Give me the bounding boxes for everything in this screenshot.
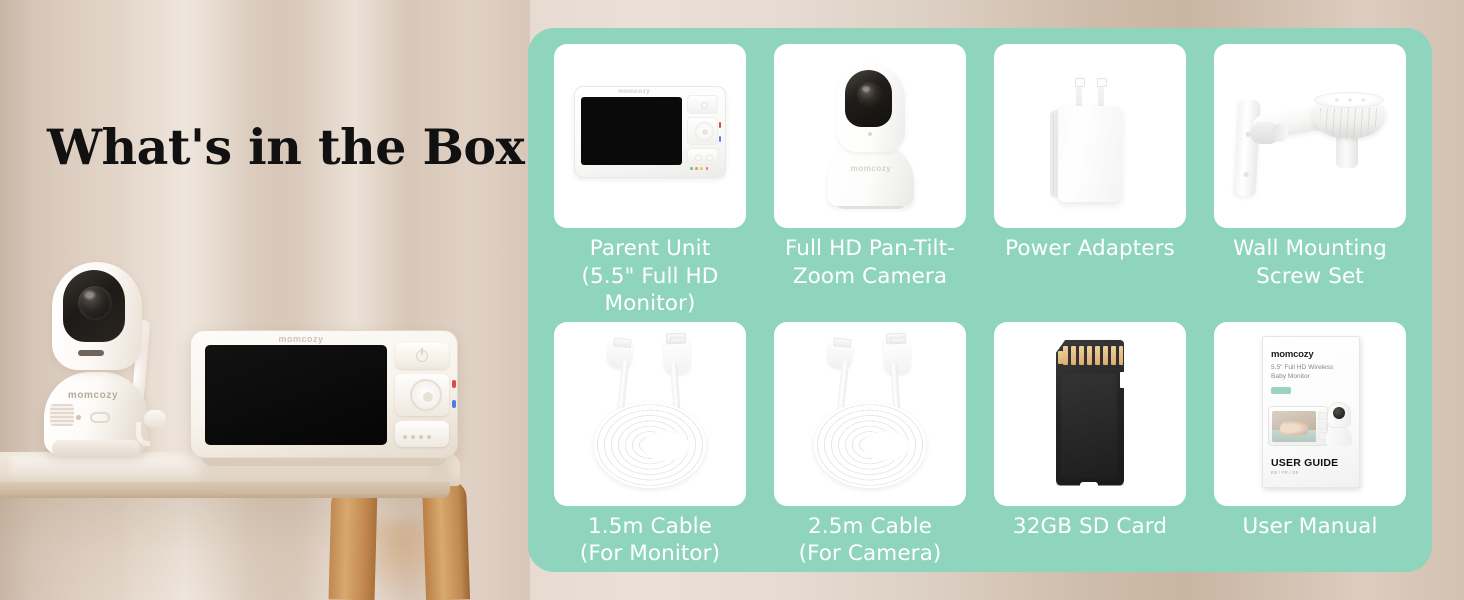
manual-guide-label: USER GUIDE	[1271, 457, 1338, 469]
sd-pin	[1087, 346, 1092, 365]
dpad-center-icon	[423, 392, 433, 402]
led-red	[706, 167, 709, 170]
product-caption-cable-camera: 2.5m Cable (For Camera)	[799, 513, 942, 568]
product-card-cable-camera	[774, 322, 966, 506]
product-caption-camera: Full HD Pan-Tilt- Zoom Camera	[785, 235, 955, 290]
product-card-cable-monitor	[554, 322, 746, 506]
product-card-camera: momcozy	[774, 44, 966, 228]
caption-line-1: Power Adapters	[1005, 235, 1175, 263]
caption-line-2: (For Monitor)	[580, 540, 720, 568]
mount-screw-points-icon	[1328, 94, 1372, 106]
wall-plate	[1234, 99, 1261, 196]
camera-sensor-dot	[868, 132, 872, 136]
caption-line-1: 2.5m Cable	[799, 513, 942, 541]
cable-illustration	[798, 336, 942, 494]
caption-line-1: User Manual	[1242, 513, 1377, 541]
adapter-seam	[1053, 114, 1054, 194]
camera-mic	[136, 410, 166, 444]
sd-pin	[1079, 346, 1084, 365]
mount-knob	[1272, 124, 1288, 142]
camera-brand-logo: momcozy	[836, 164, 906, 173]
red-indicator	[719, 122, 722, 128]
grid-item-wall-mount: Wall Mounting Screw Set	[1206, 44, 1414, 318]
grid-item-camera: momcozy Full HD Pan-Tilt- Zoom Camera	[766, 44, 974, 318]
camera-led-indicator	[76, 415, 81, 420]
caption-line-2: (For Camera)	[799, 540, 942, 568]
sd-pin	[1063, 346, 1068, 365]
blue-indicator	[452, 400, 456, 408]
manual-guide-sub: EN / FR / DE	[1271, 470, 1299, 475]
product-caption-power-adapters: Power Adapters	[1005, 235, 1175, 263]
dpad-icon	[695, 122, 714, 141]
product-grid: momcozy	[546, 44, 1414, 556]
camera-sd-slot	[78, 350, 104, 356]
led-2	[411, 435, 415, 439]
caption-line-1: Full HD Pan-Tilt-	[785, 235, 955, 263]
function-key-right-icon	[706, 155, 713, 161]
function-key-left-icon	[695, 155, 702, 161]
monitor-brand-logo: momcozy	[604, 88, 664, 95]
user-manual-illustration: momcozy 5.5" Full HD Wireless Baby Monit…	[1262, 336, 1360, 488]
product-caption-cable-monitor: 1.5m Cable (For Monitor)	[580, 513, 720, 568]
product-caption-parent-unit: Parent Unit (5.5" Full HD Monitor)	[546, 235, 754, 318]
caption-line-2: Zoom Camera	[785, 263, 955, 291]
grid-item-power-adapters: Power Adapters	[986, 44, 1194, 318]
caption-line-1: Wall Mounting	[1233, 235, 1387, 263]
camera-speaker-grille	[50, 404, 74, 426]
camera-button	[90, 412, 110, 423]
usb-tip-icon	[666, 332, 687, 344]
manual-photo-screen	[1272, 411, 1316, 442]
monitor-dpad-key	[687, 117, 718, 145]
power-adapter-illustration	[1040, 68, 1140, 206]
product-caption-sd-card: 32GB SD Card	[1013, 513, 1167, 541]
led-1	[403, 435, 407, 439]
cable-illustration	[578, 336, 722, 494]
led-orange	[695, 167, 698, 170]
headline: What's in the Box ▶	[47, 118, 566, 176]
grid-item-cable-camera: 2.5m Cable (For Camera)	[766, 322, 974, 568]
sd-card-label-area	[1061, 374, 1117, 478]
monitor-body: momcozy	[190, 330, 458, 458]
manual-title: 5.5" Full HD Wireless Baby Monitor	[1271, 363, 1349, 382]
product-caption-wall-mount: Wall Mounting Screw Set	[1233, 235, 1387, 290]
cable-coil	[594, 402, 706, 488]
product-caption-user-manual: User Manual	[1242, 513, 1377, 541]
manual-photo-baby	[1280, 421, 1308, 435]
camera-illustration: momcozy	[826, 64, 916, 212]
sd-pin	[1103, 346, 1108, 365]
caption-line-1: Parent Unit	[546, 235, 754, 263]
sd-pin	[1071, 346, 1076, 365]
sd-bottom-notch	[1080, 482, 1098, 487]
cable-coil	[814, 402, 926, 488]
photo-camera-device: momcozy	[38, 262, 158, 462]
photo-monitor-device: momcozy	[190, 330, 460, 470]
cable-coil-center	[862, 431, 910, 461]
caption-line-1: 1.5m Cable	[580, 513, 720, 541]
monitor-power-key	[687, 95, 718, 114]
lifestyle-photo: momcozy momcozy	[0, 0, 530, 600]
manual-badge	[1271, 387, 1291, 394]
product-card-wall-mount	[1214, 44, 1406, 228]
red-indicator	[452, 380, 456, 388]
blue-indicator	[719, 136, 722, 142]
led-3	[419, 435, 423, 439]
monitor-led-row	[690, 167, 708, 170]
led-4	[427, 435, 431, 439]
promo-banner: momcozy momcozy	[0, 0, 1464, 600]
monitor-screen	[205, 345, 387, 445]
dpad-icon	[410, 379, 442, 411]
manual-photo-monitor	[1268, 406, 1328, 446]
dpad-center-icon	[702, 129, 708, 135]
led-green	[690, 167, 693, 170]
grid-item-sd-card: 32GB SD Card	[986, 322, 1194, 568]
monitor-power-key	[395, 343, 449, 369]
manual-brand-logo: momcozy	[1271, 349, 1313, 360]
product-card-user-manual: momcozy 5.5" Full HD Wireless Baby Monit…	[1214, 322, 1406, 506]
sd-card-illustration	[1056, 340, 1124, 486]
monitor-screen	[581, 97, 682, 165]
usb-tip-icon	[886, 332, 907, 344]
sd-pin	[1111, 346, 1116, 365]
sd-card-contacts-icon	[1063, 346, 1123, 365]
screw-hole-bottom-icon	[1243, 172, 1248, 177]
camera-lens-icon	[857, 82, 883, 108]
cable-coil-center	[642, 431, 690, 461]
grid-item-cable-monitor: 1.5m Cable (For Monitor)	[546, 322, 754, 568]
monitor-brand-logo: momcozy	[251, 334, 351, 344]
wall-mount-illustration	[1228, 82, 1392, 200]
grid-item-user-manual: momcozy 5.5" Full HD Wireless Baby Monit…	[1206, 322, 1414, 568]
camera-lens-icon	[78, 286, 112, 320]
monitor-dpad-key	[395, 374, 449, 416]
manual-photo-camera-base	[1326, 426, 1352, 446]
caption-line-2: Screw Set	[1233, 263, 1387, 291]
manual-photo-camera	[1324, 400, 1354, 448]
caption-line-2: (5.5" Full HD Monitor)	[546, 263, 754, 318]
caption-line-1: 32GB SD Card	[1013, 513, 1167, 541]
monitor-illustration: momcozy	[574, 86, 726, 178]
sd-pin	[1119, 346, 1124, 365]
whats-in-box-panel: momcozy	[528, 28, 1432, 572]
manual-cover-photo	[1268, 400, 1354, 450]
micro-usb-connector-icon	[827, 340, 854, 368]
power-icon	[416, 350, 428, 362]
product-card-parent-unit: momcozy	[554, 44, 746, 228]
monitor-reflection	[200, 466, 450, 492]
sd-write-protect-notch	[1120, 372, 1125, 388]
adapter-body	[1058, 106, 1122, 202]
monitor-function-keys	[687, 148, 718, 165]
grid-item-parent-unit: momcozy	[546, 44, 754, 318]
sd-pin	[1095, 346, 1100, 365]
camera-mic-head	[144, 410, 166, 428]
product-card-power-adapters	[994, 44, 1186, 228]
camera-foot	[52, 440, 140, 458]
monitor-function-keys	[395, 421, 449, 447]
product-card-sd-card	[994, 322, 1186, 506]
camera-brand-logo: momcozy	[58, 390, 128, 401]
headline-text: What's in the Box	[47, 118, 524, 176]
micro-usb-connector-icon	[607, 340, 634, 368]
led-yellow	[700, 167, 703, 170]
power-icon	[701, 102, 708, 109]
wooden-chair-back	[329, 487, 378, 600]
monitor-control-pad	[687, 95, 719, 168]
monitor-led-row	[403, 435, 431, 439]
manual-photo-camera-lens-icon	[1333, 407, 1345, 419]
